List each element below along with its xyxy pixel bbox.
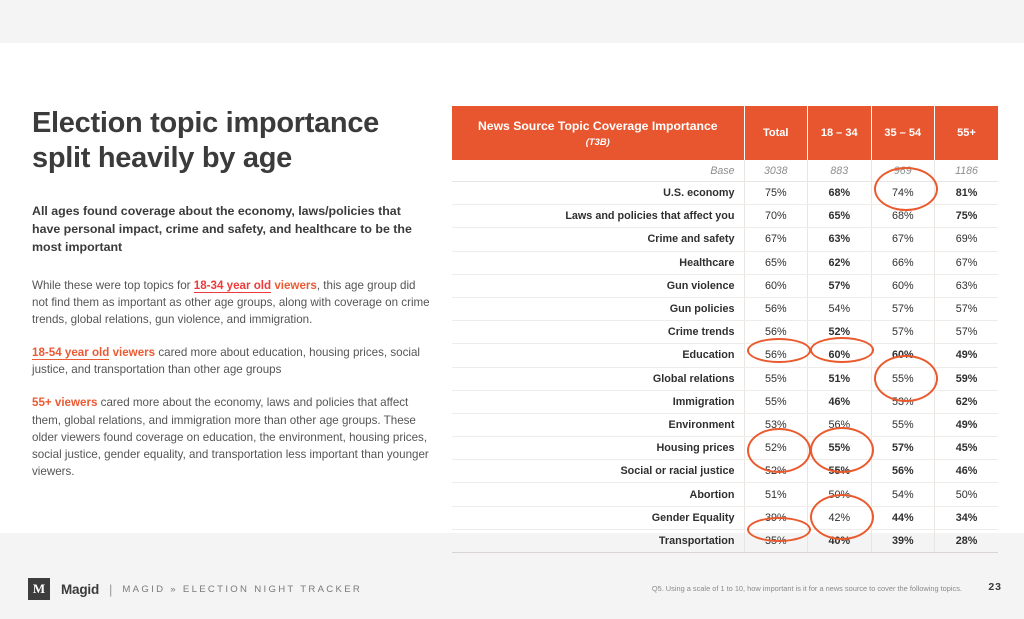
cell-value: 81% (935, 182, 999, 205)
survey-question-note: Q5. Using a scale of 1 to 10, how import… (652, 584, 962, 593)
cell-value: 68% (808, 182, 872, 205)
cell-value: 51% (744, 483, 808, 506)
page-title-line-2: split heavily by age (32, 141, 432, 176)
cell-value: 63% (935, 274, 999, 297)
cell-value: 56% (871, 460, 935, 483)
cell-value: 75% (935, 205, 999, 228)
cell-value: 57% (808, 274, 872, 297)
paragraph-2-highlight-viewers: viewers (109, 346, 155, 359)
base-value-55plus: 1186 (935, 160, 999, 182)
row-label: Gun violence (452, 274, 744, 297)
cell-value: 39% (744, 506, 808, 529)
row-label: Transportation (452, 529, 744, 552)
row-label: Environment (452, 413, 744, 436)
cell-value: 55% (808, 460, 872, 483)
table-row: Gun policies56%54%57%57% (452, 297, 998, 320)
page-number: 23 (988, 581, 1002, 593)
row-label: Crime trends (452, 321, 744, 344)
cell-value: 53% (744, 413, 808, 436)
brand-separator: | (109, 582, 112, 597)
paragraph-1-highlight-age: 18-34 year old (194, 279, 271, 293)
breadcrumb: MAGID » ELECTION NIGHT TRACKER (122, 584, 362, 595)
cell-value: 62% (935, 390, 999, 413)
cell-value: 55% (871, 367, 935, 390)
slide-text-column: Election topic importance split heavily … (32, 106, 432, 480)
base-value-total: 3038 (744, 160, 808, 182)
brand-lockup: M Magid | MAGID » ELECTION NIGHT TRACKER (28, 578, 362, 600)
cell-value: 54% (871, 483, 935, 506)
cell-value: 59% (935, 367, 999, 390)
base-value-35-54: 969 (871, 160, 935, 182)
cell-value: 74% (871, 182, 935, 205)
row-label: Abortion (452, 483, 744, 506)
table-title: News Source Topic Coverage Importance (452, 119, 744, 133)
column-header-55plus: 55+ (935, 106, 999, 160)
cell-value: 68% (871, 205, 935, 228)
row-label: Education (452, 344, 744, 367)
cell-value: 46% (935, 460, 999, 483)
cell-value: 51% (808, 367, 872, 390)
row-label: Gender Equality (452, 506, 744, 529)
cell-value: 67% (935, 251, 999, 274)
table-row-base: Base 3038 883 969 1186 (452, 160, 998, 182)
paragraph-2-highlight-age: 18-54 year old (32, 346, 109, 360)
row-label: Crime and safety (452, 228, 744, 251)
cell-value: 65% (808, 205, 872, 228)
paragraph-1-highlight-viewers: viewers (271, 279, 317, 292)
table-row: Crime and safety67%63%67%69% (452, 228, 998, 251)
cell-value: 46% (808, 390, 872, 413)
slide-footer: M Magid | MAGID » ELECTION NIGHT TRACKER… (0, 559, 1024, 619)
row-label: Gun policies (452, 297, 744, 320)
table-row: Global relations55%51%55%59% (452, 367, 998, 390)
topic-importance-table: News Source Topic Coverage Importance (T… (452, 106, 998, 553)
row-label: Global relations (452, 367, 744, 390)
lede-paragraph: All ages found coverage about the econom… (32, 203, 432, 257)
brand-name: Magid (61, 582, 99, 597)
table-row: Social or racial justice52%55%56%46% (452, 460, 998, 483)
cell-value: 52% (808, 321, 872, 344)
cell-value: 55% (871, 413, 935, 436)
table-row: Transportation35%40%39%28% (452, 529, 998, 552)
cell-value: 55% (744, 390, 808, 413)
body-paragraph-1: While these were top topics for 18-34 ye… (32, 277, 432, 328)
table-row: Housing prices52%55%57%45% (452, 437, 998, 460)
row-label: U.S. economy (452, 182, 744, 205)
row-label: Healthcare (452, 251, 744, 274)
column-header-18-34: 18 – 34 (808, 106, 872, 160)
cell-value: 40% (808, 529, 872, 552)
table-row: Gun violence60%57%60%63% (452, 274, 998, 297)
column-header-total: Total (744, 106, 808, 160)
cell-value: 52% (744, 437, 808, 460)
table-row: Education56%60%60%49% (452, 344, 998, 367)
row-label: Social or racial justice (452, 460, 744, 483)
cell-value: 50% (808, 483, 872, 506)
column-header-35-54: 35 – 54 (871, 106, 935, 160)
base-label: Base (452, 160, 744, 182)
cell-value: 67% (871, 228, 935, 251)
cell-value: 34% (935, 506, 999, 529)
table-row: U.S. economy75%68%74%81% (452, 182, 998, 205)
cell-value: 57% (871, 297, 935, 320)
paragraph-1-pre: While these were top topics for (32, 279, 194, 292)
table-row: Immigration55%46%53%62% (452, 390, 998, 413)
cell-value: 56% (744, 297, 808, 320)
cell-value: 57% (871, 437, 935, 460)
table-row: Gender Equality39%42%44%34% (452, 506, 998, 529)
cell-value: 57% (935, 321, 999, 344)
cell-value: 60% (871, 274, 935, 297)
cell-value: 60% (808, 344, 872, 367)
table-title-cell: News Source Topic Coverage Importance (T… (452, 106, 744, 160)
cell-value: 65% (744, 251, 808, 274)
cell-value: 39% (871, 529, 935, 552)
table-row: Healthcare65%62%66%67% (452, 251, 998, 274)
cell-value: 44% (871, 506, 935, 529)
cell-value: 75% (744, 182, 808, 205)
table-header: News Source Topic Coverage Importance (T… (452, 106, 998, 160)
cell-value: 49% (935, 344, 999, 367)
table-row: Crime trends56%52%57%57% (452, 321, 998, 344)
cell-value: 66% (871, 251, 935, 274)
cell-value: 49% (935, 413, 999, 436)
cell-value: 62% (808, 251, 872, 274)
cell-value: 50% (935, 483, 999, 506)
row-label: Laws and policies that affect you (452, 205, 744, 228)
cell-value: 63% (808, 228, 872, 251)
cell-value: 67% (744, 228, 808, 251)
cell-value: 69% (935, 228, 999, 251)
table-row: Environment53%56%55%49% (452, 413, 998, 436)
table-subtitle: (T3B) (452, 136, 744, 147)
page-title: Election topic importance split heavily … (32, 106, 432, 177)
cell-value: 55% (808, 437, 872, 460)
row-label: Immigration (452, 390, 744, 413)
paragraph-3-highlight-viewers: 55+ viewers (32, 396, 97, 409)
cell-value: 70% (744, 205, 808, 228)
table-body: Base 3038 883 969 1186 U.S. economy75%68… (452, 160, 998, 553)
cell-value: 45% (935, 437, 999, 460)
cell-value: 42% (808, 506, 872, 529)
cell-value: 60% (744, 274, 808, 297)
cell-value: 57% (871, 321, 935, 344)
cell-value: 57% (935, 297, 999, 320)
table-row: Laws and policies that affect you70%65%6… (452, 205, 998, 228)
cell-value: 55% (744, 367, 808, 390)
topic-importance-table-container: News Source Topic Coverage Importance (T… (452, 106, 998, 553)
cell-value: 35% (744, 529, 808, 552)
cell-value: 56% (808, 413, 872, 436)
page-title-line-1: Election topic importance (32, 106, 432, 141)
cell-value: 60% (871, 344, 935, 367)
cell-value: 56% (744, 344, 808, 367)
row-label: Housing prices (452, 437, 744, 460)
magid-logo-icon: M (28, 578, 50, 600)
slide-canvas: Election topic importance split heavily … (0, 43, 1024, 533)
cell-value: 28% (935, 529, 999, 552)
table-row: Abortion51%50%54%50% (452, 483, 998, 506)
body-paragraph-3: 55+ viewers cared more about the economy… (32, 394, 432, 480)
cell-value: 56% (744, 321, 808, 344)
base-value-18-34: 883 (808, 160, 872, 182)
body-paragraph-2: 18-54 year old viewers cared more about … (32, 344, 432, 378)
cell-value: 54% (808, 297, 872, 320)
cell-value: 52% (744, 460, 808, 483)
cell-value: 53% (871, 390, 935, 413)
